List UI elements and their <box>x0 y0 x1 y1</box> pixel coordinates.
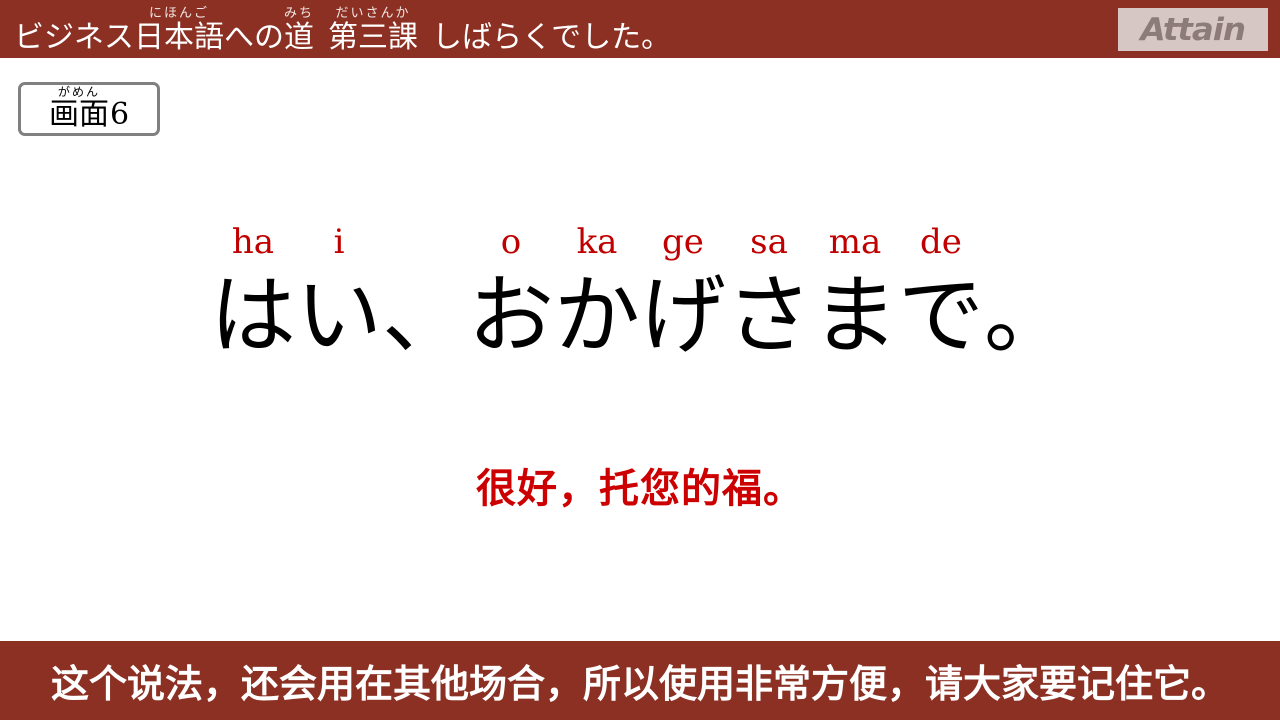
romaji-text: ma <box>829 222 882 264</box>
kana-text: ま <box>812 264 898 368</box>
romaji-text: ha <box>232 222 274 264</box>
title-segment-2-base: 日本語 <box>134 22 224 54</box>
kana-unit: ha は <box>210 222 296 368</box>
kana-unit: de で <box>898 222 984 368</box>
footer-note-text: 这个说法，还会用在其他场合，所以使用非常方便，请大家要记住它。 <box>51 653 1229 708</box>
title-segment-4-base: 道 <box>284 22 314 54</box>
screen-badge-base: 画面 <box>49 99 109 131</box>
kana-text: は <box>210 264 296 368</box>
kana-text: お <box>468 264 554 368</box>
screen-badge-inner: がめん 画面 6 <box>49 86 129 131</box>
kana-unit: 。 <box>984 222 1070 368</box>
romaji-text: ka <box>577 222 618 264</box>
title-segment-6-base: しばらくでした。 <box>432 22 671 54</box>
attain-logo: Attain <box>1118 8 1268 51</box>
title-segment-6: しばらくでした。 <box>432 7 671 54</box>
romaji-text: de <box>920 222 962 264</box>
screen-badge-number: 6 <box>109 99 129 131</box>
header-bar: ビジネス にほんご 日本語 への みち 道 だいさんか 第三課 しば <box>0 0 1280 58</box>
title-segment-2: にほんご 日本語 <box>134 7 224 54</box>
kana-unit: o お <box>468 222 554 368</box>
romaji-text: o <box>501 222 521 264</box>
title-segment-5-base: 第三課 <box>328 22 418 54</box>
kana-unit: sa さ <box>726 222 812 368</box>
kana-unit: 、 <box>382 222 468 368</box>
kana-text: げ <box>640 264 726 368</box>
romaji-text: i <box>334 222 345 264</box>
title-segment-3-base: への <box>224 22 284 54</box>
kana-unit: ma ま <box>812 222 898 368</box>
romaji-text: ge <box>662 222 704 264</box>
japanese-sentence: ha は i い 、 o お ka か ge げ sa さ ma ま <box>210 222 1070 368</box>
kana-text: さ <box>726 264 812 368</box>
kana-unit: ge げ <box>640 222 726 368</box>
kana-text: 、 <box>382 264 468 368</box>
romaji-text: sa <box>750 222 788 264</box>
screen-number-badge: がめん 画面 6 <box>18 82 160 136</box>
kana-unit: ka か <box>554 222 640 368</box>
attain-logo-text: Attain <box>1141 12 1246 48</box>
lesson-title: ビジネス にほんご 日本語 への みち 道 だいさんか 第三課 しば <box>14 0 671 58</box>
footer-bar: 这个说法，还会用在其他场合，所以使用非常方便，请大家要记住它。 <box>0 641 1280 720</box>
title-segment-1-base: ビジネス <box>14 22 134 54</box>
title-segment-4: みち 道 <box>284 7 314 54</box>
title-segment-3: への <box>224 7 284 54</box>
title-ruby-group: ビジネス にほんご 日本語 への みち 道 だいさんか 第三課 しば <box>14 7 671 54</box>
kana-text: か <box>554 264 640 368</box>
screen-badge-ruby-unit: がめん 画面 <box>49 86 109 131</box>
kana-text: い <box>296 264 382 368</box>
title-segment-1: ビジネス <box>14 7 134 54</box>
title-segment-5: だいさんか 第三課 <box>328 7 418 54</box>
kana-unit: i い <box>296 222 382 368</box>
chinese-translation: 很好，托您的福。 <box>0 456 1280 514</box>
sentence-area: ha は i い 、 o お ka か ge げ sa さ ma ま <box>0 222 1280 368</box>
kana-text: で <box>898 264 984 368</box>
kana-text: 。 <box>984 264 1070 368</box>
